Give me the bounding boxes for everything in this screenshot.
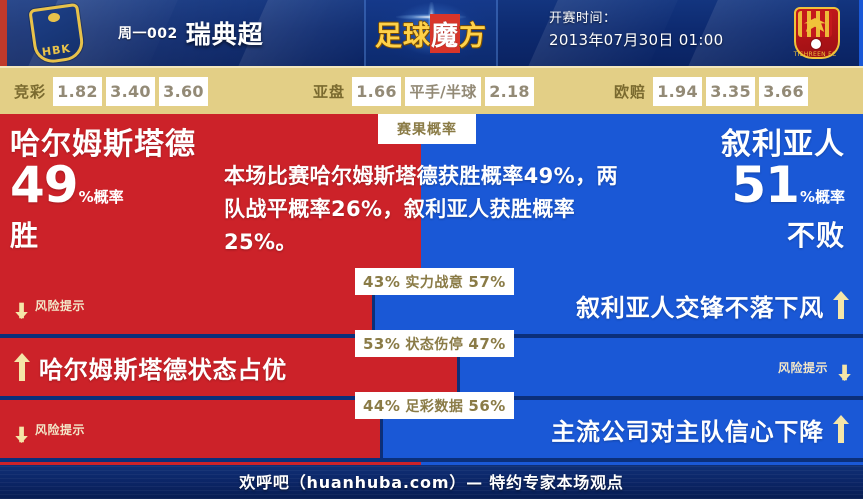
brand-logo-text: 足球魔方 <box>364 0 498 66</box>
away-probability-unit: %概率 <box>800 188 845 206</box>
stat-right-percent: 56% <box>468 397 505 415</box>
stat-home-message: 风险提示 <box>35 297 85 314</box>
odds-cell[interactable]: 1.66 <box>352 77 401 106</box>
stat-rows: 43% 实力战意 57% 风险提示 叙利亚人交锋不落下风 53% 状态伤停 47… <box>0 276 863 462</box>
odds-cell[interactable]: 1.94 <box>653 77 702 106</box>
odds-group-yapan: 亚盘 1.66 平手/半球 2.18 <box>313 77 538 106</box>
kickoff-label: 开赛时间： <box>549 9 759 29</box>
away-team-summary: 叙利亚人 51%概率 不败 <box>721 128 845 252</box>
brand-part-3: 方 <box>459 14 487 53</box>
arrow-down-icon <box>15 296 24 315</box>
stat-right-percent: 47% <box>468 335 505 353</box>
header-left-red-edge <box>0 0 7 66</box>
stat-home-message: 风险提示 <box>35 421 85 438</box>
stat-name: 状态伤停 <box>405 334 463 354</box>
brand-logo-panel: 足球魔方 <box>364 0 498 66</box>
stat-left-percent: 53% <box>363 335 400 353</box>
stat-home-message: 哈尔姆斯塔德状态占优 <box>39 350 287 385</box>
odds-cell[interactable]: 3.66 <box>759 77 808 106</box>
odds-group-oupei: 欧赔 1.94 3.35 3.66 <box>614 77 812 106</box>
stat-row-away-text: 风险提示 <box>778 338 849 396</box>
odds-bar: 竞彩 1.82 3.40 3.60 亚盘 1.66 平手/半球 2.18 欧赔 … <box>0 66 863 114</box>
match-league: 瑞典超 <box>186 15 264 51</box>
match-preview-graphic: HBK 周一002 瑞典超 足球魔方 开赛时间： 2013年07月30日 01:… <box>0 0 863 499</box>
probability-panel: 赛果概率 哈尔姆斯塔德 49%概率 胜 叙利亚人 51%概率 不败 本场比赛哈尔… <box>0 114 863 276</box>
odds-cell[interactable]: 2.18 <box>485 77 534 106</box>
brand-part-1: 足球 <box>375 14 431 53</box>
odds-cell[interactable]: 3.60 <box>159 77 208 106</box>
home-outcome-label: 胜 <box>10 220 196 252</box>
odds-group-jingcai: 竞彩 1.82 3.40 3.60 <box>14 77 212 106</box>
away-team-crest: TISHREEN FC <box>787 4 843 62</box>
odds-cell[interactable]: 1.82 <box>53 77 102 106</box>
home-crest-initials: HBK <box>22 0 86 65</box>
stat-row-away-text: 叙利亚人交锋不落下风 <box>576 276 849 334</box>
stat-left-percent: 44% <box>363 397 400 415</box>
stat-right-percent: 57% <box>468 273 505 291</box>
stat-row: 53% 状态伤停 47% 哈尔姆斯塔德状态占优 风险提示 <box>0 338 863 396</box>
arrow-down-icon <box>15 420 24 439</box>
away-crest-name: TISHREEN FC <box>787 51 843 58</box>
match-title-group: 周一002 瑞典超 <box>118 0 264 66</box>
stat-away-message: 主流公司对主队信心下降 <box>551 412 824 447</box>
home-probability: 49%概率 <box>10 160 196 222</box>
stat-name: 足彩数据 <box>405 396 463 416</box>
odds-group-title: 竞彩 <box>14 81 46 102</box>
stat-left-percent: 43% <box>363 273 400 291</box>
stat-row-label: 43% 实力战意 57% <box>355 268 514 295</box>
stat-away-message: 风险提示 <box>778 359 828 376</box>
odds-cell[interactable]: 3.40 <box>106 77 155 106</box>
away-probability-value: 51 <box>731 156 799 214</box>
arrow-up-icon <box>14 352 30 382</box>
stat-row-home-text: 风险提示 <box>14 400 85 458</box>
match-summary-text: 本场比赛哈尔姆斯塔德获胜概率49%，两队战平概率26%，叙利亚人获胜概率25%。 <box>224 160 624 259</box>
kickoff-value: 2013年07月30日 01:00 <box>549 29 759 51</box>
footer-red-rule <box>0 462 421 465</box>
away-outcome-label: 不败 <box>721 220 845 252</box>
odds-cell[interactable]: 3.35 <box>706 77 755 106</box>
stat-row-label: 44% 足彩数据 56% <box>355 392 514 419</box>
stat-row: 43% 实力战意 57% 风险提示 叙利亚人交锋不落下风 <box>0 276 863 334</box>
stat-row-home-text: 风险提示 <box>14 276 85 334</box>
arrow-up-icon <box>833 290 849 320</box>
stat-away-message: 叙利亚人交锋不落下风 <box>576 288 824 323</box>
header-right-blue-edge <box>859 0 863 66</box>
footer-bar: 欢呼吧（huanhuba.com）— 特约专家本场观点 <box>0 462 863 499</box>
arrow-down-icon <box>838 358 847 377</box>
footer-blue-rule <box>421 462 863 465</box>
home-probability-value: 49 <box>10 156 78 214</box>
kickoff-time-block: 开赛时间： 2013年07月30日 01:00 <box>549 9 759 51</box>
arrow-up-icon <box>833 414 849 444</box>
stat-row-label: 53% 状态伤停 47% <box>355 330 514 357</box>
tab-result-probability[interactable]: 赛果概率 <box>378 114 476 144</box>
away-probability: 51%概率 <box>721 160 845 222</box>
header-bar: HBK 周一002 瑞典超 足球魔方 开赛时间： 2013年07月30日 01:… <box>0 0 863 66</box>
stat-name: 实力战意 <box>405 272 463 292</box>
stat-row-away-text: 主流公司对主队信心下降 <box>551 400 849 458</box>
match-round: 周一002 <box>118 23 178 43</box>
footer-credit: 欢呼吧（huanhuba.com）— 特约专家本场观点 <box>239 469 623 493</box>
odds-cell-handicap[interactable]: 平手/半球 <box>405 77 481 106</box>
stat-row-home-text: 哈尔姆斯塔德状态占优 <box>14 338 287 396</box>
stat-row: 44% 足彩数据 56% 风险提示 主流公司对主队信心下降 <box>0 400 863 458</box>
away-crest-ball-icon <box>810 38 822 50</box>
home-team-summary: 哈尔姆斯塔德 49%概率 胜 <box>10 128 196 252</box>
brand-part-2: 魔 <box>430 14 460 53</box>
home-team-crest: HBK <box>26 4 82 62</box>
odds-group-title: 亚盘 <box>313 81 345 102</box>
odds-group-title: 欧赔 <box>614 81 646 102</box>
home-probability-unit: %概率 <box>79 188 124 206</box>
